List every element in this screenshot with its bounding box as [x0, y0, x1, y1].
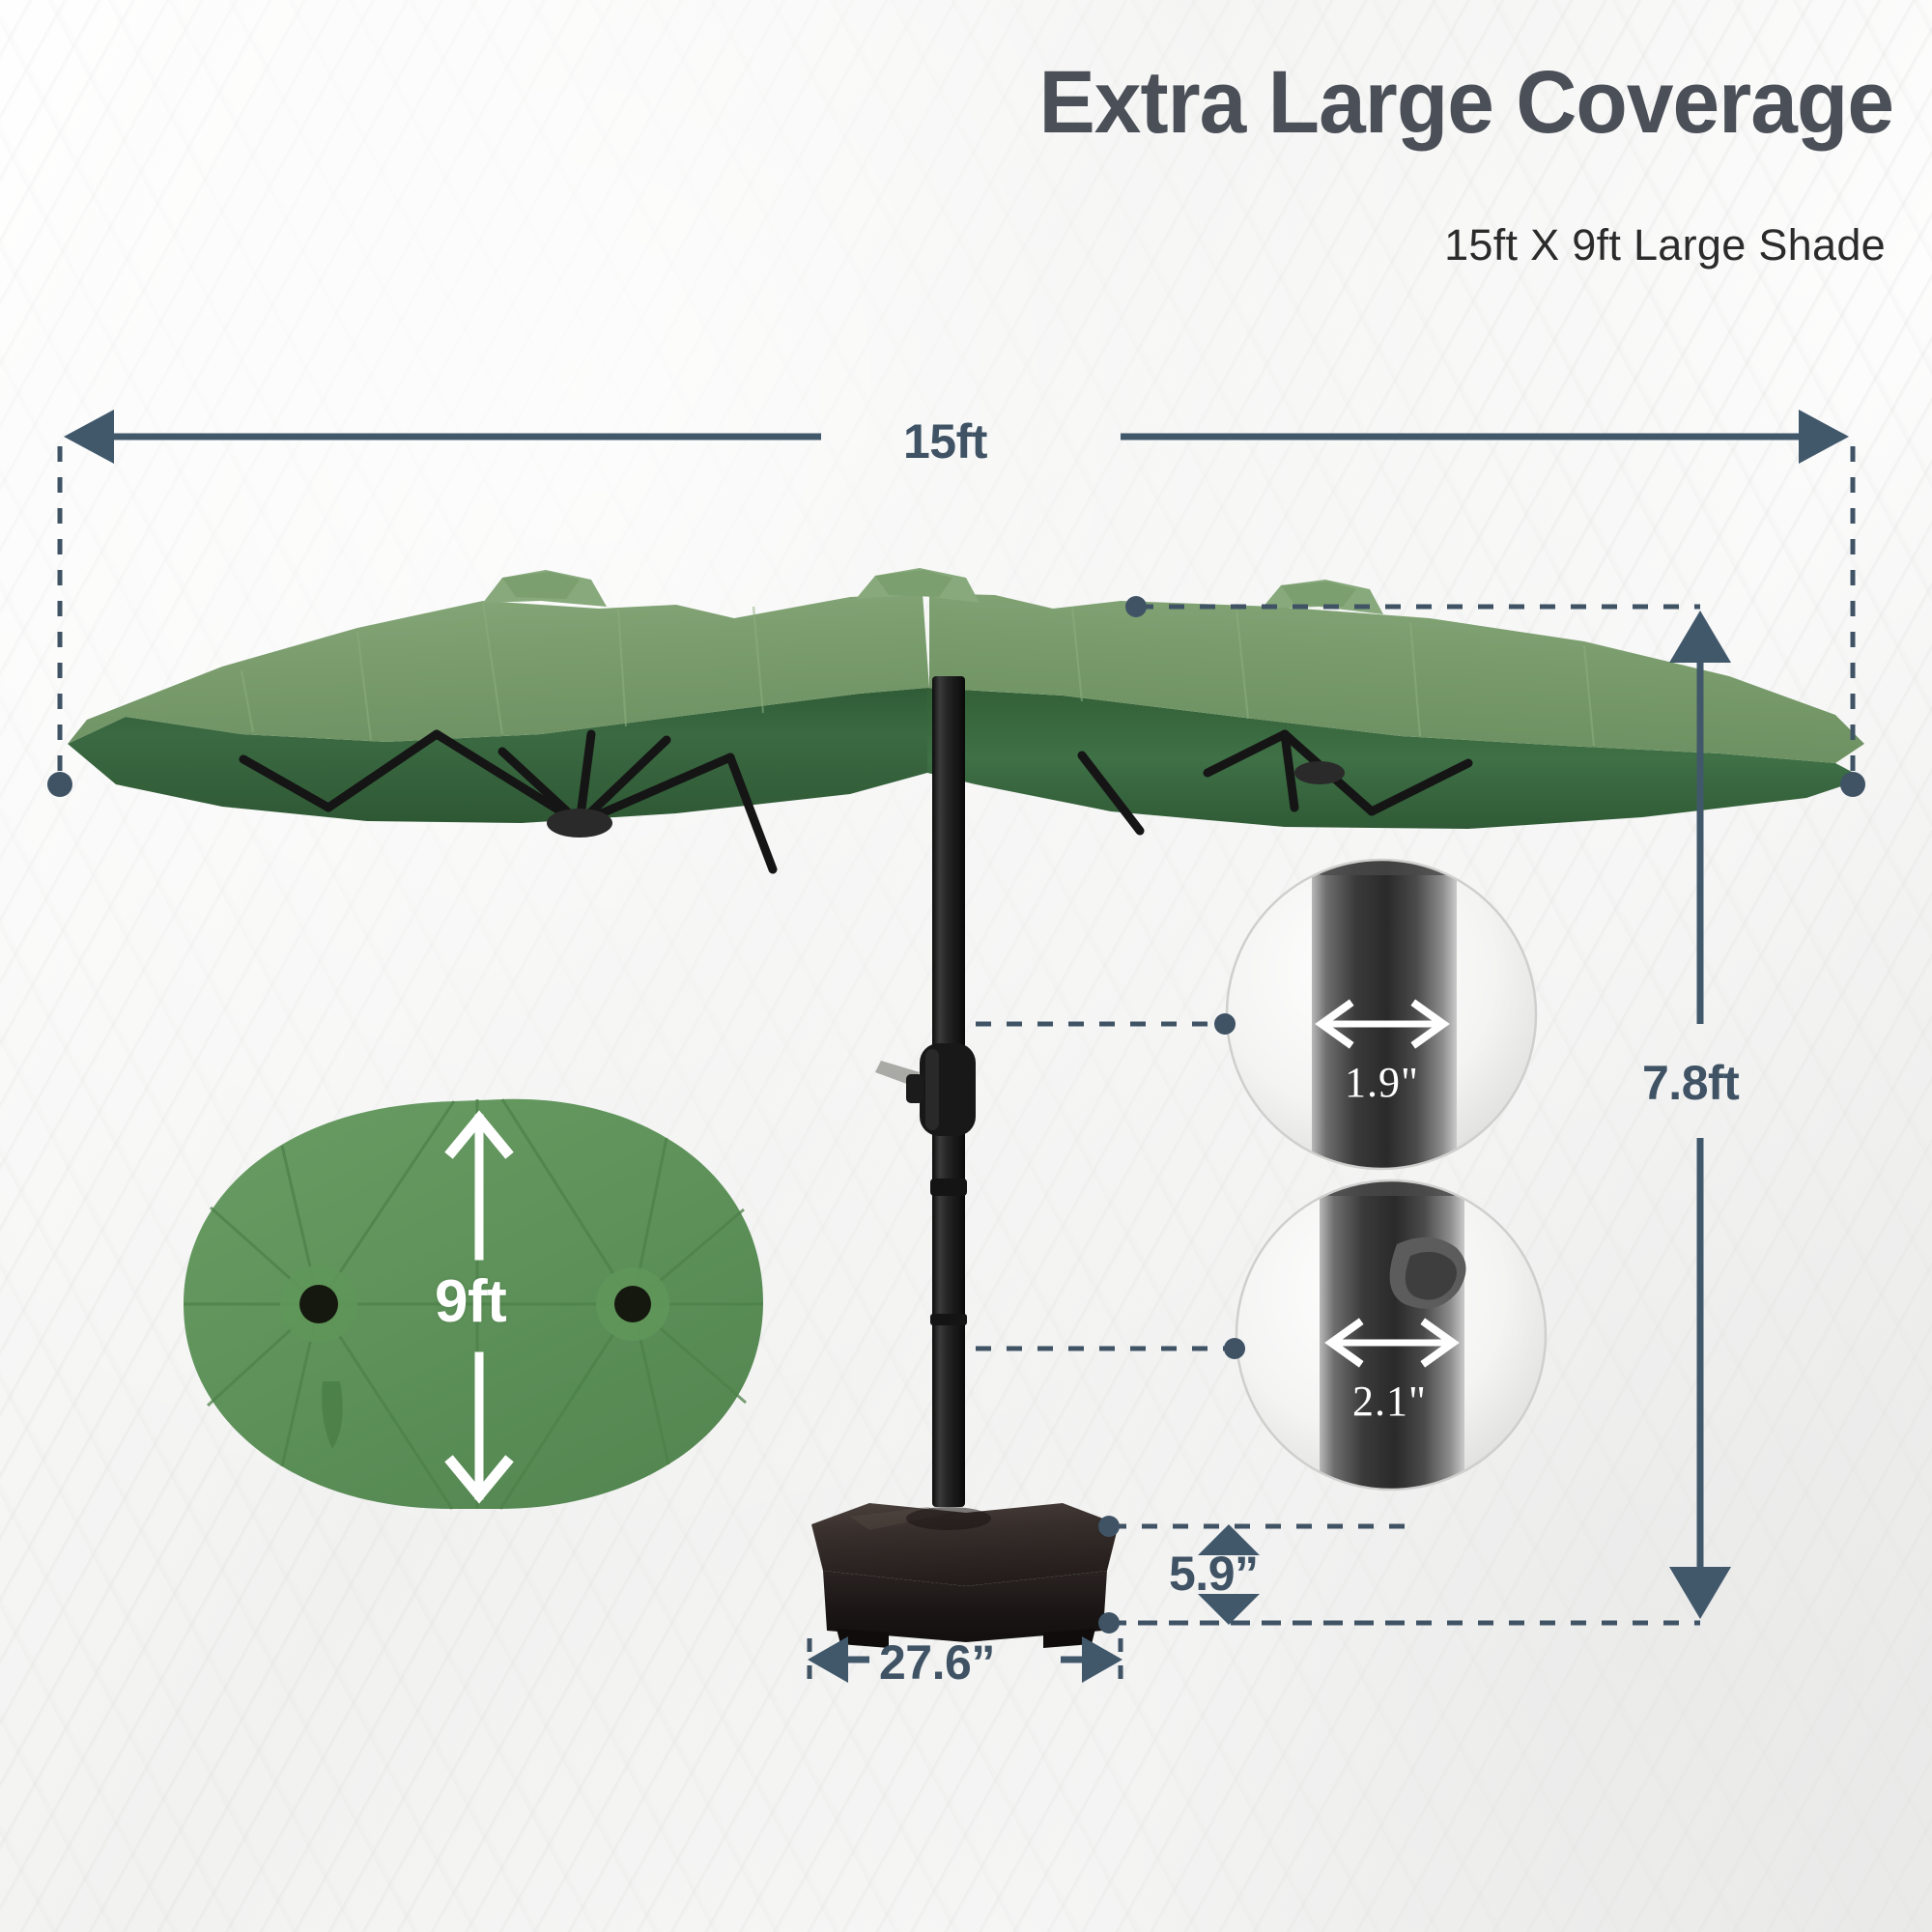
page-title: Extra Large Coverage — [95, 56, 1893, 150]
infographic-canvas: Extra Large Coverage 15ft X 9ft Large Sh… — [0, 0, 1932, 1932]
dimension-label-height: 7.8ft — [1642, 1055, 1739, 1111]
dimension-label-width: 15ft — [903, 413, 987, 469]
dimension-label-canopy-depth: 9ft — [435, 1267, 506, 1336]
dimension-label-base-width: 27.6” — [879, 1634, 995, 1690]
callout-label-upper-pole: 1.9" — [1345, 1058, 1419, 1107]
dimension-label-base-height: 5.9” — [1169, 1546, 1259, 1602]
page-subtitle: 15ft X 9ft Large Shade — [0, 220, 1886, 270]
callout-label-lower-pole: 2.1" — [1352, 1377, 1427, 1426]
